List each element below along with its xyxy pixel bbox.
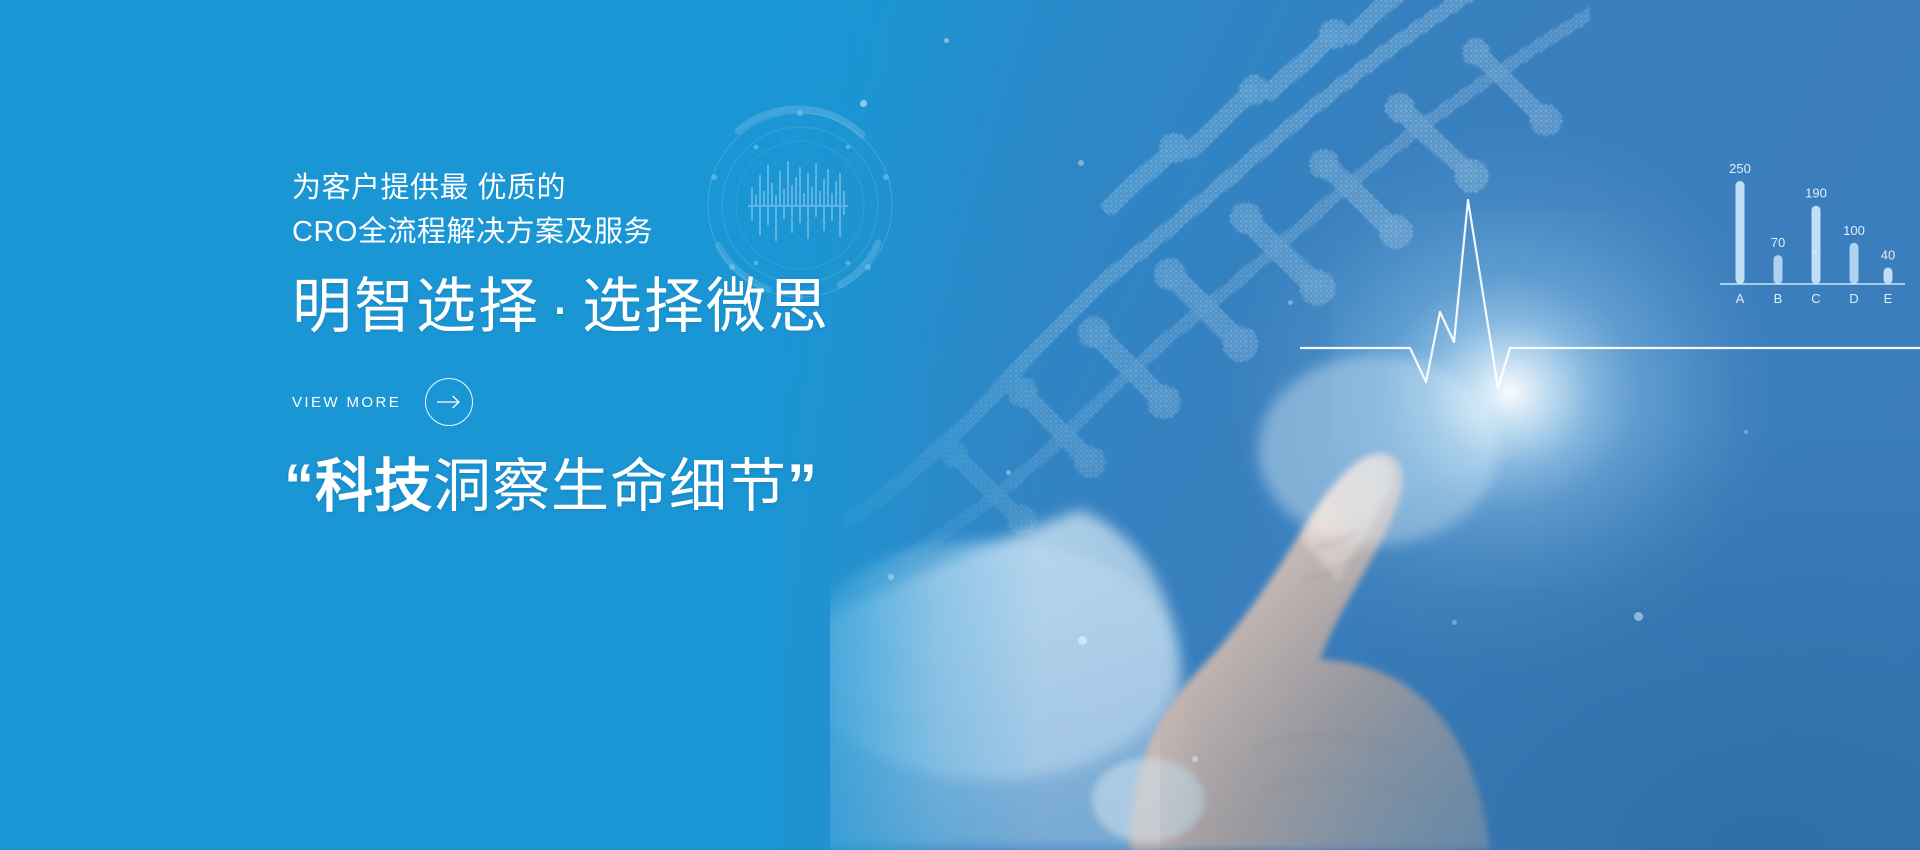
bar-label-a: A [1736,291,1745,306]
bar-value-d: 100 [1843,223,1865,238]
bar-label-e: E [1884,291,1893,306]
bar-c [1812,206,1821,284]
bar-d [1850,243,1859,284]
bar-value-e: 40 [1881,248,1895,263]
hero-banner: 2507019010040 ABCDE 为客户提供最 优质的 CRO全流程解决方… [0,0,1920,850]
bar-a [1736,181,1745,284]
view-more-button[interactable]: VIEW MORE [292,378,473,426]
bar-e [1884,268,1893,284]
subtitle-block: 为客户提供最 优质的 CRO全流程解决方案及服务 [292,166,653,254]
tagline-quote: “科技洞察生命细节” [284,448,818,525]
hero-content: 为客户提供最 优质的 CRO全流程解决方案及服务 明智选择·选择微思 VIEW … [292,0,1112,850]
bar-label-b: B [1774,291,1783,306]
view-more-label: VIEW MORE [292,394,401,411]
quote-light-text: 洞察生命细节 [433,454,787,519]
bar-label-c: C [1811,291,1820,306]
subtitle-line-1: 为客户提供最 优质的 [292,166,653,210]
bar-value-c: 190 [1805,186,1827,201]
bar-value-b: 70 [1771,235,1785,250]
quote-strong-text: 科技 [315,454,433,519]
quote-open-mark: “ [284,452,315,519]
quote-close-mark: ” [787,452,818,519]
page-title: 明智选择·选择微思 [292,270,830,344]
headline-left: 明智选择 [292,273,540,340]
headline-right: 选择微思 [582,273,830,340]
bar-b [1774,255,1783,284]
bar-value-a: 250 [1729,161,1751,176]
arrow-right-icon[interactable] [425,378,473,426]
bar-label-d: D [1849,291,1858,306]
headline-separator: · [540,273,582,340]
subtitle-line-2: CRO全流程解决方案及服务 [292,210,653,254]
bar-chart-overlay: 2507019010040 ABCDE [1700,145,1905,320]
